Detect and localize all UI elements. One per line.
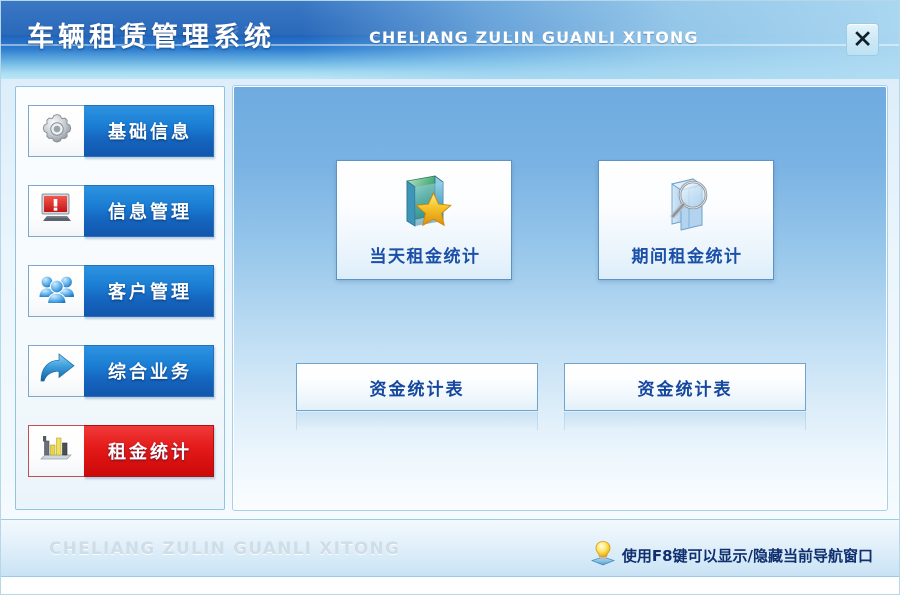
sidebar-item-comprehensive-business[interactable]: 综合业务 [28,345,214,397]
sidebar-item-customer-management[interactable]: 客户管理 [28,265,214,317]
button-label: 资金统计表 [370,375,465,400]
tile-label: 当天租金统计 [337,242,513,267]
users-group-icon [38,272,76,310]
status-bar: CHELIANG ZULIN GUANLI XITONG [1,519,900,577]
sidebar-icon-slot [28,185,84,237]
tile-icon-slot [599,167,775,241]
lightbulb-icon [588,538,618,572]
sidebar-item-label: 租金统计 [105,438,192,464]
close-button[interactable] [846,23,879,56]
sidebar-icon-slot [28,265,84,317]
sidebar-label-slot: 信息管理 [84,185,214,237]
tile-today-rent-statistics[interactable]: 当天租金统计 [336,160,512,280]
sidebar-icon-slot [28,345,84,397]
sidebar-icon-slot [28,105,84,157]
window-body: 基础信息 [1,79,900,519]
sidebar-item-label: 综合业务 [105,358,192,384]
sidebar-label-slot: 客户管理 [84,265,214,317]
book-magnifier-icon [651,171,723,237]
button-reflection [564,412,806,430]
sidebar-item-info-management[interactable]: 信息管理 [28,185,214,237]
button-fund-statistics-table-1[interactable]: 资金统计表 [296,363,538,411]
tile-period-rent-statistics[interactable]: 期间租金统计 [598,160,774,280]
curved-arrow-icon [37,352,77,390]
main-content-panel: 当天租金统计 [233,86,887,510]
navigation-sidebar: 基础信息 [15,86,225,510]
sidebar-item-label: 信息管理 [105,198,192,224]
sidebar-item-label: 基础信息 [105,118,192,144]
app-title-chinese: 车辆租赁管理系统 [27,15,275,54]
bar-chart-icon [37,432,77,470]
button-reflection [296,412,538,430]
monitor-alert-icon [38,191,76,231]
folder-star-icon [389,171,461,237]
title-bar: 车辆租赁管理系统 车辆租赁管理系统 CHELIANG ZULIN GUANLI … [1,1,900,79]
button-label: 资金统计表 [638,375,733,400]
gear-icon [39,111,75,151]
tile-label: 期间租金统计 [599,242,775,267]
application-window: 车辆租赁管理系统 车辆租赁管理系统 CHELIANG ZULIN GUANLI … [0,0,900,595]
sidebar-label-slot: 综合业务 [84,345,214,397]
close-x-icon [853,30,872,49]
sidebar-item-rent-statistics[interactable]: 租金统计 [28,425,214,477]
status-bar-hint: 使用F8键可以显示/隐藏当前导航窗口 [588,538,873,572]
status-bar-watermark: CHELIANG ZULIN GUANLI XITONG [49,539,400,559]
app-title-pinyin: CHELIANG ZULIN GUANLI XITONG [369,28,699,47]
tile-icon-slot [337,167,513,241]
sidebar-label-slot: 租金统计 [84,425,214,477]
button-fund-statistics-table-2[interactable]: 资金统计表 [564,363,806,411]
sidebar-icon-slot [28,425,84,477]
status-hint-text: 使用F8键可以显示/隐藏当前导航窗口 [622,545,873,566]
sidebar-label-slot: 基础信息 [84,105,214,157]
window-bottom-strip [1,577,900,595]
sidebar-item-label: 客户管理 [105,278,192,304]
sidebar-item-basic-info[interactable]: 基础信息 [28,105,214,157]
